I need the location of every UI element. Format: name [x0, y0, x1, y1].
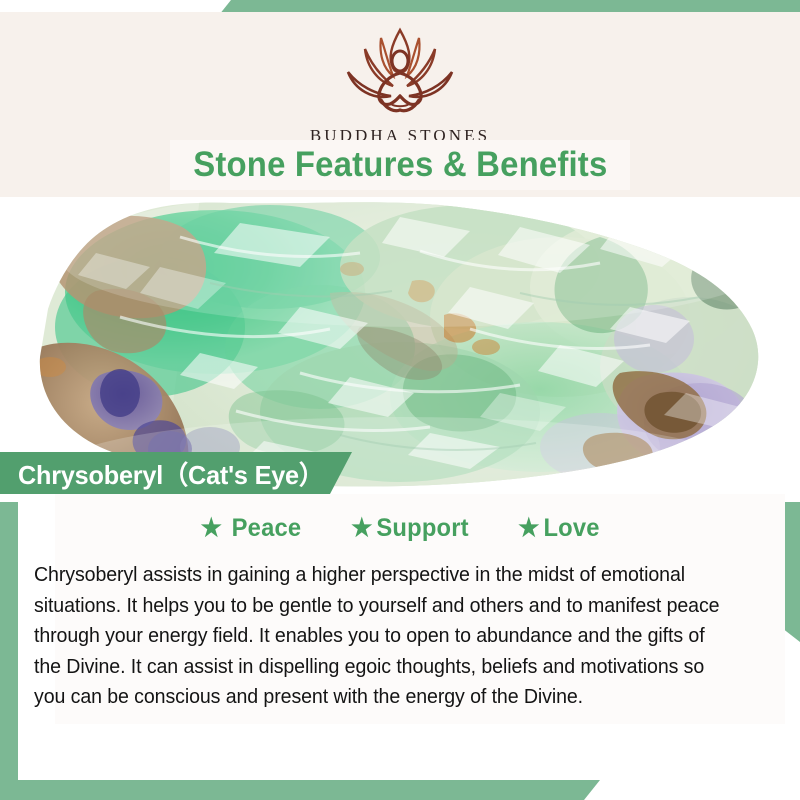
- page-title: Stone Features & Benefits: [193, 145, 607, 185]
- benefit-label: Support: [377, 514, 469, 543]
- title-plate: Stone Features & Benefits: [170, 140, 630, 190]
- benefit-tags: ★ Peace ★ Support ★ Love: [0, 514, 800, 543]
- benefit-tag-love: ★ Love: [518, 514, 599, 543]
- benefit-label: Love: [543, 514, 599, 543]
- benefit-label: Peace: [232, 514, 302, 543]
- benefit-tag-peace: ★ Peace: [201, 514, 302, 543]
- stone-name-banner: Chrysoberyl（Cat's Eye）: [0, 452, 352, 494]
- frame-bar-bottom: [0, 780, 600, 800]
- benefit-tag-support: ★ Support: [351, 514, 469, 543]
- stone-info-card: BUDDHA STONES Stone Features & Benefits: [0, 0, 800, 800]
- stone-name: Chrysoberyl（Cat's Eye）: [18, 455, 324, 492]
- lotus-meditation-icon: [341, 24, 459, 124]
- stone-description: Chrysoberyl assists in gaining a higher …: [34, 560, 736, 713]
- star-icon: ★: [201, 516, 222, 541]
- star-icon: ★: [351, 516, 372, 541]
- star-icon: ★: [518, 516, 539, 541]
